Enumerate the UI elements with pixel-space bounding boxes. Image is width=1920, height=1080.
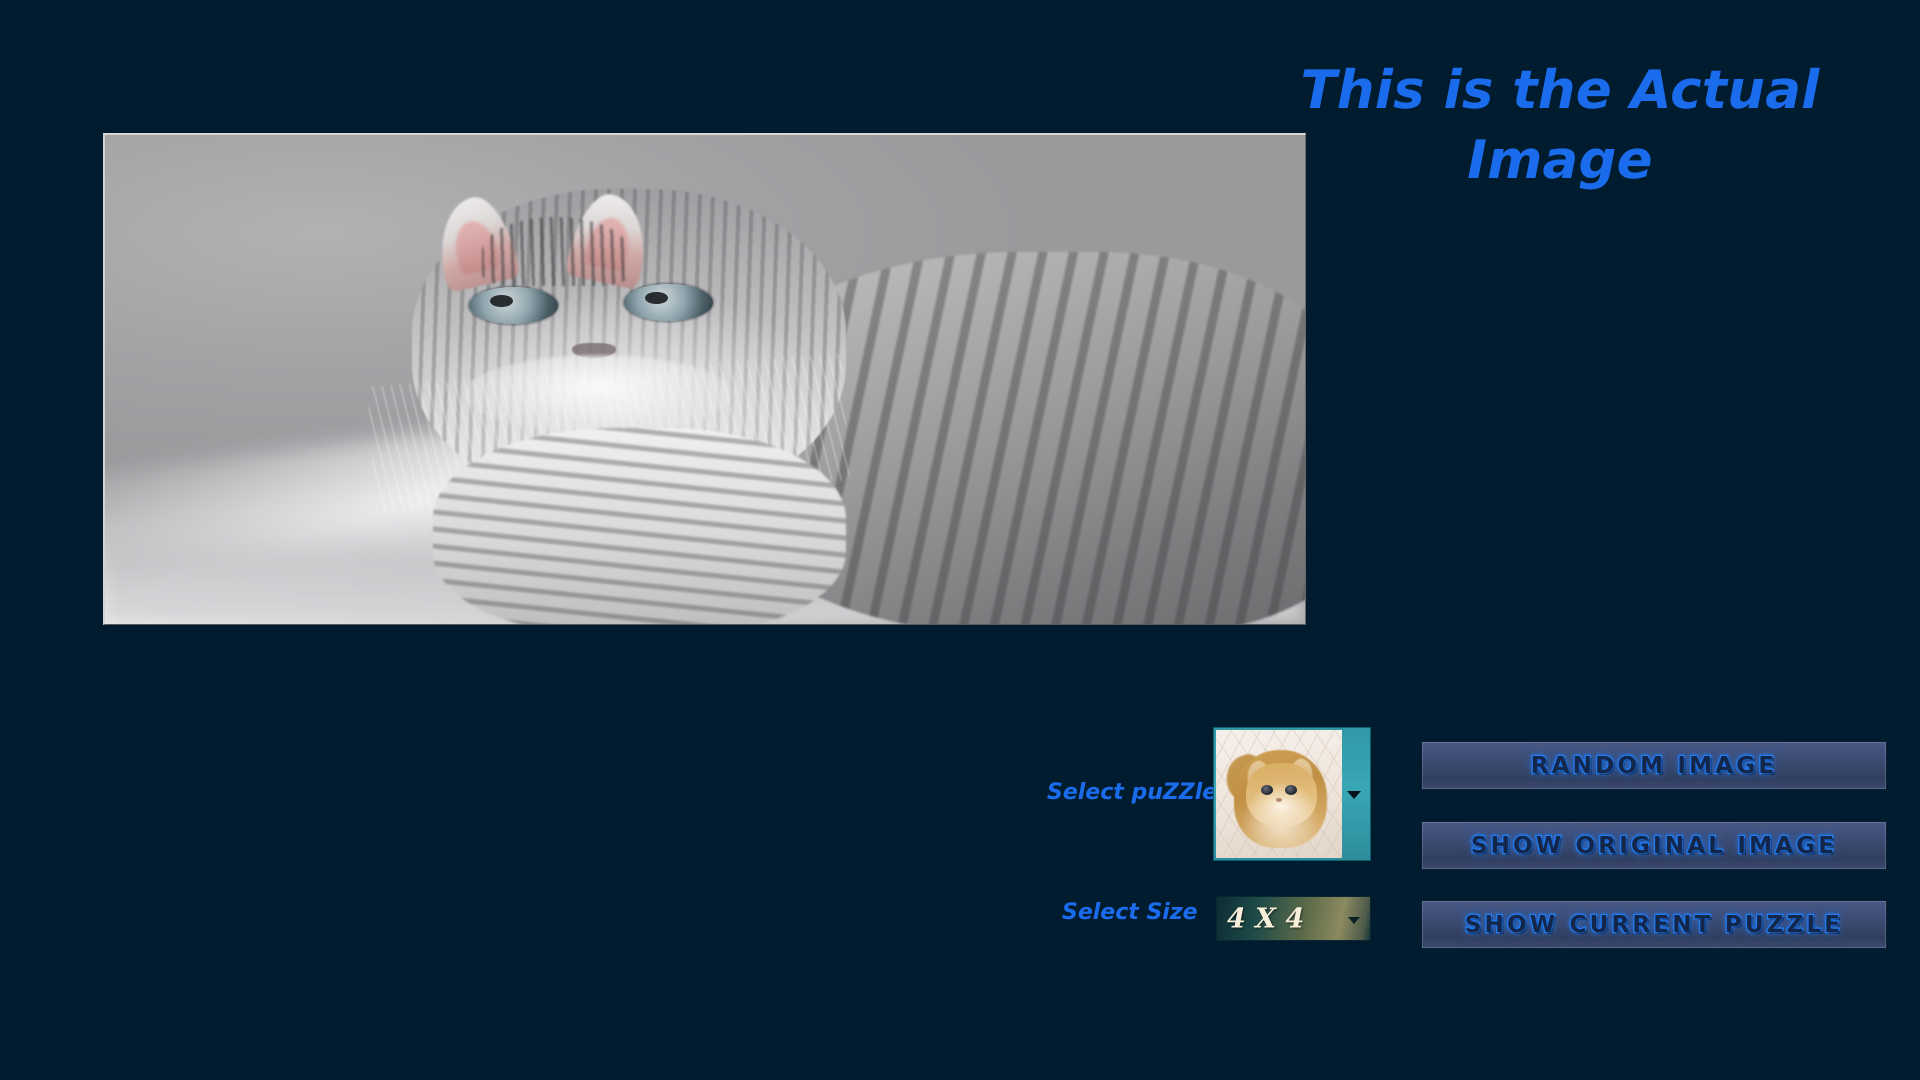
show-original-image-button-label: SHOW ORIGINAL IMAGE <box>1471 833 1837 859</box>
page-title: This is the Actual Image <box>1280 56 1840 196</box>
show-current-puzzle-button-label: SHOW CURRENT PUZZLE <box>1465 912 1843 938</box>
kitten-eye-left <box>469 287 558 324</box>
chevron-down-icon[interactable] <box>1347 791 1361 799</box>
random-image-button-label: RANDOM IMAGE <box>1531 753 1778 779</box>
random-image-button[interactable]: RANDOM IMAGE <box>1421 741 1887 790</box>
kitten-eye-right <box>624 284 713 321</box>
chevron-down-icon[interactable] <box>1348 917 1360 924</box>
page-title-line-1: This is the Actual <box>1280 56 1840 126</box>
kitten-chest <box>433 428 846 624</box>
select-puzzle-dropdown[interactable] <box>1213 727 1371 861</box>
actual-image-frame <box>103 133 1306 625</box>
thumbnail-cat-head <box>1246 763 1317 827</box>
kitten-illustration <box>309 145 1305 624</box>
select-puzzle-label: Select puZZle <box>1047 780 1217 805</box>
actual-image <box>105 135 1305 624</box>
puzzle-thumbnail <box>1216 730 1342 858</box>
show-current-puzzle-button[interactable]: SHOW CURRENT PUZZLE <box>1421 900 1887 949</box>
show-original-image-button[interactable]: SHOW ORIGINAL IMAGE <box>1421 821 1887 870</box>
select-size-dropdown[interactable]: 4 X 4 <box>1216 896 1371 941</box>
page-title-line-2: Image <box>1280 126 1840 196</box>
select-size-value: 4 X 4 <box>1227 903 1304 934</box>
select-size-label: Select Size <box>1062 900 1198 925</box>
puzzle-app-root: This is the Actual Image <box>0 0 1920 1080</box>
kitten-forehead-stripes <box>482 217 629 286</box>
